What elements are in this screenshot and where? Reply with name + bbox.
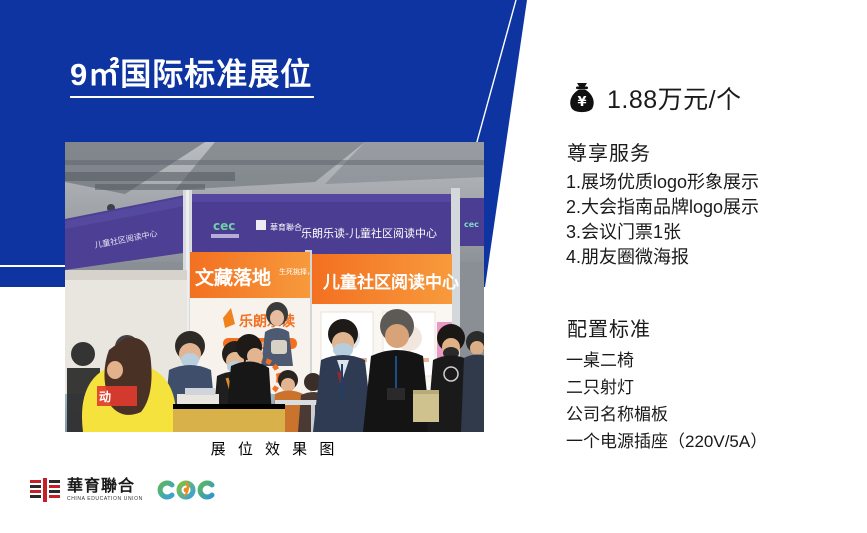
union-logo-cn: 華育聯合 [67, 478, 143, 494]
footer-logos: 華育聯合 CHINA EDUCATION UNION [30, 478, 219, 502]
exhibition-booth-photo: 儿童社区阅读中心 乐朗乐读-儿童社区阅读中心 cec 華育聯合 cec [65, 142, 484, 432]
list-item: 1.展场优质logo形象展示 [566, 170, 759, 195]
svg-text:儿童社区阅读中心: 儿童社区阅读中心 [322, 272, 459, 293]
slide-title-block: 9㎡国际标准展位 [70, 57, 314, 98]
union-logo-en: CHINA EDUCATION UNION [67, 497, 143, 502]
list-item: 一桌二椅 [566, 347, 767, 374]
list-item: 2.大会指南品牌logo展示 [566, 195, 759, 220]
list-item: 一个电源插座（220V/5A） [566, 428, 767, 455]
svg-text:乐朗乐读-儿童社区阅读中心: 乐朗乐读-儿童社区阅读中心 [301, 226, 437, 240]
configuration-list: 一桌二椅 二只射灯 公司名称楣板 一个电源插座（220V/5A） [566, 347, 767, 455]
services-list: 1.展场优质logo形象展示 2.大会指南品牌logo展示 3.会议门票1张 4… [566, 170, 759, 270]
svg-text:華育聯合: 華育聯合 [270, 222, 302, 232]
price-amount: 1.88万元/个 [607, 80, 742, 116]
info-panel: ¥ 1.88万元/个 尊享服务 1.展场优质logo形象展示 2.大会指南品牌l… [564, 0, 867, 533]
money-bag-icon: ¥ [567, 81, 597, 115]
union-mark-icon [30, 478, 60, 502]
list-item: 3.会议门票1张 [566, 220, 759, 245]
configuration-heading: 配置标准 [567, 313, 651, 342]
list-item: 二只射灯 [566, 374, 767, 401]
services-heading: 尊享服务 [567, 137, 651, 166]
title-underline [70, 96, 314, 98]
svg-text:cec: cec [464, 220, 479, 229]
union-logo-text: 華育聯合 CHINA EDUCATION UNION [67, 478, 143, 502]
photo-caption: 展 位 效 果 图 [65, 438, 484, 459]
svg-text:文藏落地: 文藏落地 [195, 266, 271, 289]
svg-text:动: 动 [99, 390, 111, 404]
title-text: 9㎡国际标准展位 [70, 57, 312, 92]
page-title: 9㎡国际标准展位 [70, 57, 314, 93]
list-item: 公司名称楣板 [566, 401, 767, 428]
svg-text:¥: ¥ [577, 95, 586, 110]
cec-logo-icon [157, 478, 219, 502]
price-row: ¥ 1.88万元/个 [567, 80, 742, 116]
booth-photo-illustration: 儿童社区阅读中心 乐朗乐读-儿童社区阅读中心 cec 華育聯合 cec [65, 142, 484, 432]
list-item: 4.朋友圈微海报 [566, 245, 759, 270]
svg-text:cec: cec [213, 219, 235, 233]
slide-canvas: 9㎡国际标准展位 [0, 0, 867, 533]
china-education-union-logo: 華育聯合 CHINA EDUCATION UNION [30, 478, 143, 502]
